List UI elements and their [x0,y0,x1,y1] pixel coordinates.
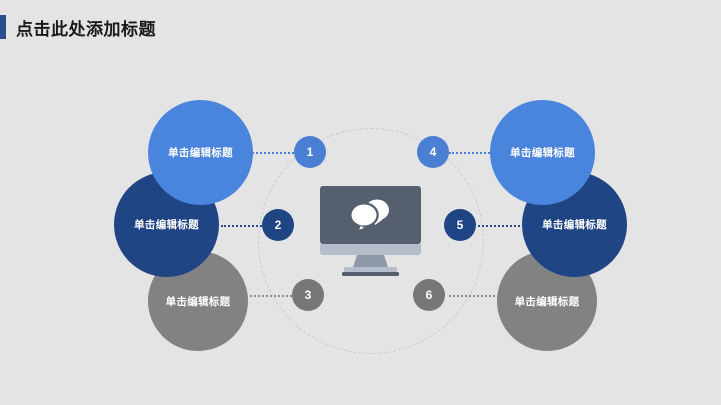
bubble-5-label: 单击编辑标题 [542,217,607,232]
slide-canvas: 点击此处添加标题 单击编辑标题 单击编辑标题 单击编辑标题 单击编辑标题 单击编… [0,0,721,405]
badge-6[interactable]: 6 [413,279,445,311]
bubble-1[interactable]: 单击编辑标题 [148,100,253,205]
badge-5[interactable]: 5 [444,209,476,241]
connector-6 [449,295,499,297]
page-title-text: 点击此处添加标题 [16,15,156,40]
connector-1 [249,152,298,154]
bubble-6-label: 单击编辑标题 [515,294,580,309]
bubble-1-label: 单击编辑标题 [168,145,233,160]
desktop-monitor-chat-icon [320,186,421,277]
badge-6-number: 6 [426,289,433,301]
connector-5 [478,225,524,227]
connector-3 [246,295,296,297]
title-accent-bar [0,15,6,39]
page-title: 点击此处添加标题 [0,14,156,40]
badge-1[interactable]: 1 [294,136,326,168]
connector-2 [221,225,266,227]
badge-1-number: 1 [307,146,314,158]
connector-4 [449,152,497,154]
badge-2[interactable]: 2 [262,209,294,241]
bubble-2-label: 单击编辑标题 [134,217,199,232]
badge-3-number: 3 [305,289,312,301]
badge-5-number: 5 [457,219,464,231]
bubble-3-label: 单击编辑标题 [166,294,231,309]
badge-4-number: 4 [430,146,437,158]
badge-2-number: 2 [275,219,282,231]
badge-3[interactable]: 3 [292,279,324,311]
badge-4[interactable]: 4 [417,136,449,168]
bubble-4-label: 单击编辑标题 [510,145,575,160]
bubble-4[interactable]: 单击编辑标题 [490,100,595,205]
